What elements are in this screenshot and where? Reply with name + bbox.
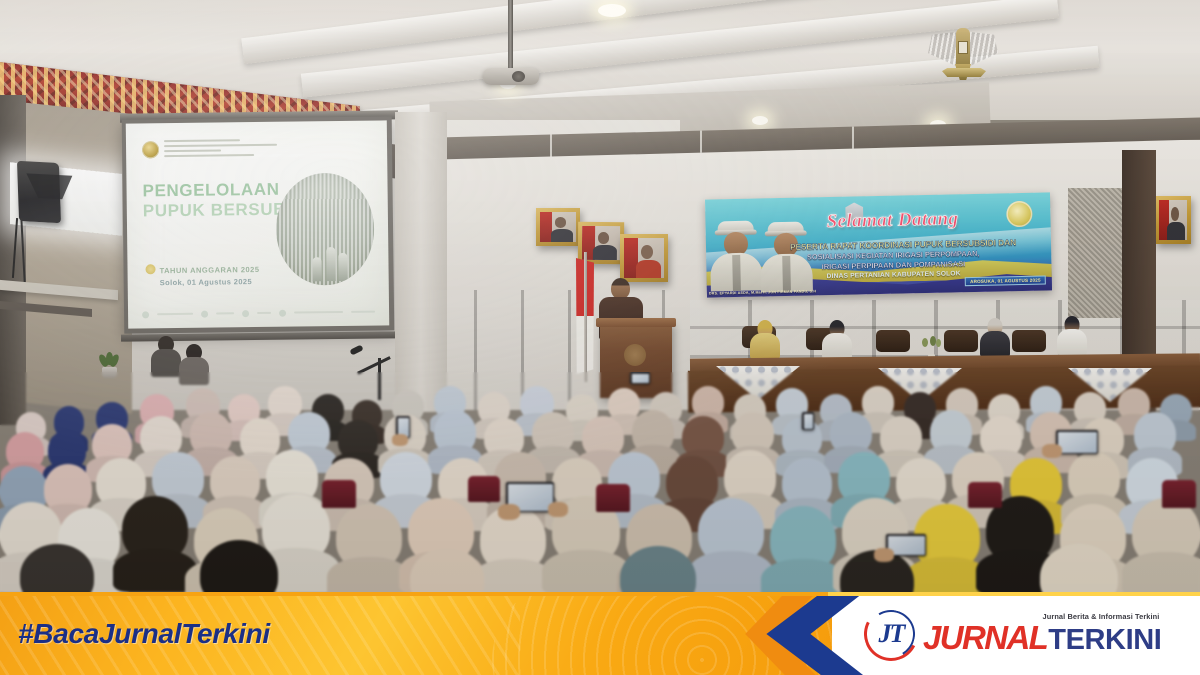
banner-greeting: Selamat Datang	[797, 208, 987, 234]
panel-chair	[876, 330, 910, 352]
podium-top	[596, 318, 676, 327]
official-portrait	[536, 208, 580, 246]
smartphone	[1056, 430, 1098, 454]
welcome-banner: DRS. EPYARDI ASDA, M.Mar H. JON FIRMAN P…	[705, 192, 1052, 297]
slide-header-lines	[164, 139, 282, 160]
brand-word-terkini: TERKINI	[1048, 627, 1161, 654]
projector-mount-rod	[508, 0, 513, 70]
slide-photo-circle	[275, 173, 374, 286]
jurnal-terkini-logo: JT Jurnal Berita & Informasi Terkini JUR…	[864, 607, 1161, 661]
golden-logo-icon	[1006, 201, 1033, 228]
official-portrait	[1155, 196, 1191, 244]
projector-lens-icon	[512, 71, 525, 82]
smartphone	[802, 412, 814, 430]
brand-wordmark: Jurnal Berita & Informasi Terkini JURNAL…	[923, 614, 1161, 654]
pa-speaker	[17, 161, 61, 223]
garuda-pancasila-emblem-icon	[928, 28, 998, 80]
official-portrait	[620, 234, 668, 282]
event-photograph: PENGELOLAAN PUPUK BERSUBSIDI TAHUN ANGGA…	[0, 0, 1200, 594]
smartphone	[630, 372, 650, 384]
brand-word-jurnal: JURNAL	[923, 623, 1047, 653]
slide-footer-logos	[142, 308, 375, 319]
brand-footer-bar: #BacaJurnalTerkini JT Jurnal Berita & In…	[0, 592, 1200, 675]
banner-date-badge: AROSUKA, 01 AGUSTUS 2025	[965, 276, 1046, 287]
footer-hashtag: #BacaJurnalTerkini	[18, 618, 270, 650]
indonesian-flag	[575, 252, 595, 382]
brand-tagline: Jurnal Berita & Informasi Terkini	[1043, 612, 1160, 621]
slide-title-line1: PENGELOLAAN	[142, 180, 279, 201]
acoustic-mesh-panel	[1068, 188, 1126, 318]
jt-monogram-icon: JT	[864, 607, 918, 661]
podium-emblem-icon	[624, 344, 646, 366]
panel-chair	[1012, 330, 1046, 352]
audience	[0, 372, 1200, 594]
ceiling-downlight	[598, 4, 626, 17]
slide-date: Solok, 01 Agustus 2025	[160, 277, 252, 287]
presentation-slide: PENGELOLAAN PUPUK BERSUBSIDI TAHUN ANGGA…	[126, 120, 389, 328]
panel-chair	[944, 330, 978, 352]
screenshot-root: PENGELOLAAN PUPUK BERSUBSIDI TAHUN ANGGA…	[0, 0, 1200, 675]
ceiling-downlight	[752, 116, 768, 125]
ceiling-projector	[483, 68, 539, 85]
slide-subtitle: TAHUN ANGGARAN 2025	[160, 265, 260, 275]
official-photo-left	[707, 216, 765, 291]
footer-top-accent-line	[0, 592, 1200, 596]
slide-bullet-icon	[145, 264, 155, 274]
ministry-logo-icon	[142, 141, 159, 158]
jt-initials: JT	[864, 607, 918, 661]
